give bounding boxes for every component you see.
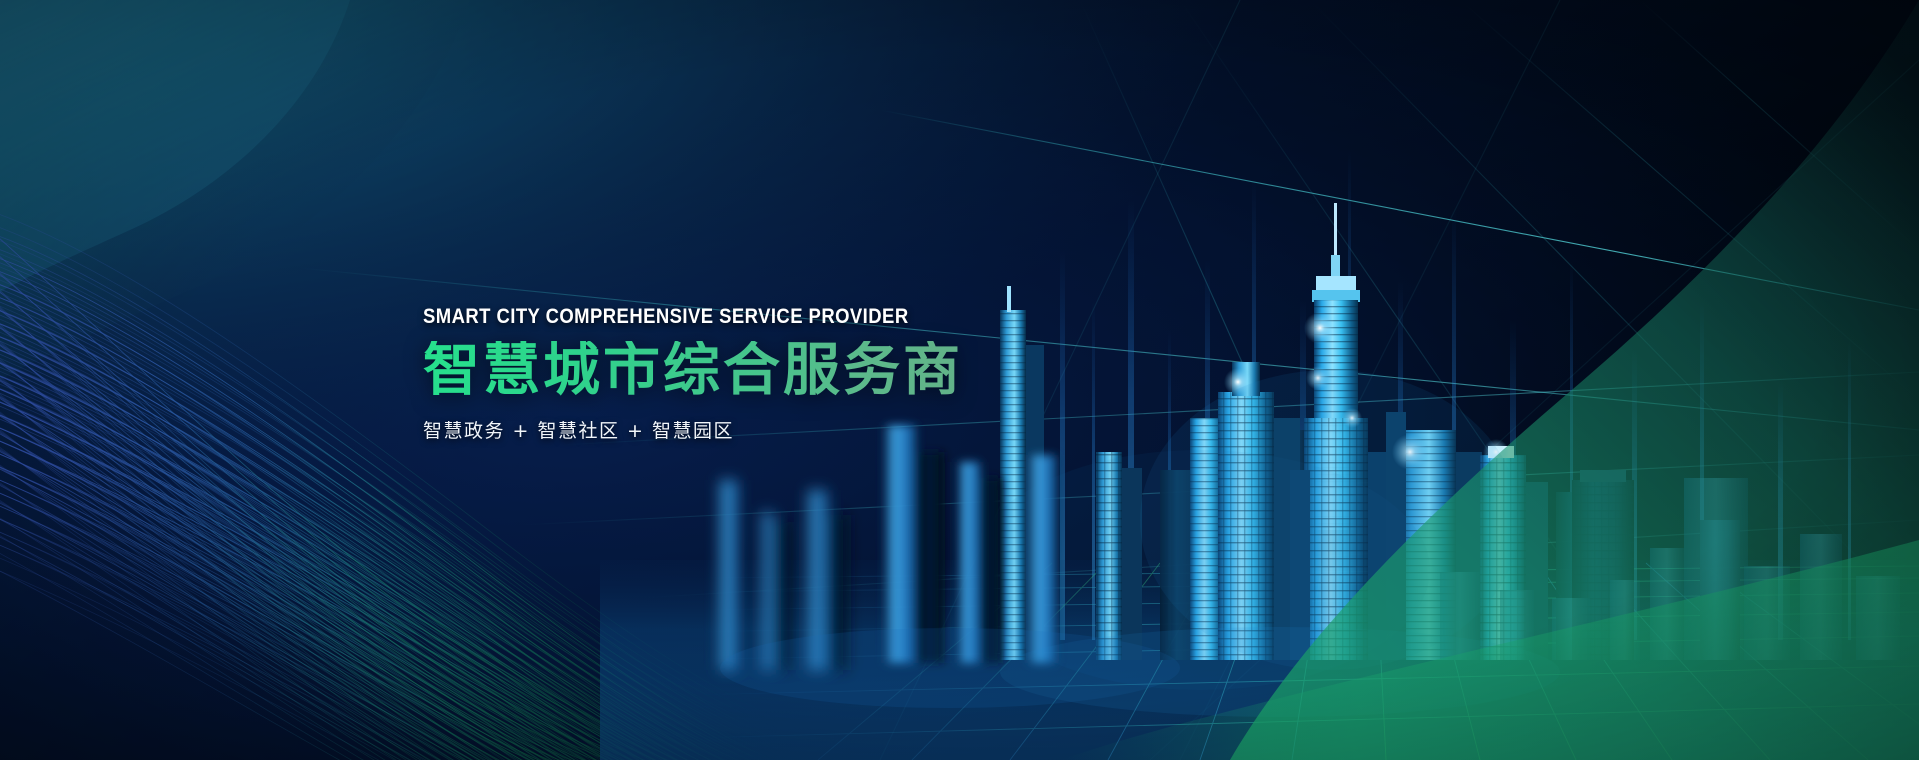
hero-headline: 智慧城市综合服务商 (423, 341, 975, 400)
hero-text-block: SMART CITY COMPREHENSIVE SERVICE PROVIDE… (423, 305, 975, 443)
hero-eyebrow: SMART CITY COMPREHENSIVE SERVICE PROVIDE… (423, 305, 909, 328)
smart-city-hero-banner: SMART CITY COMPREHENSIVE SERVICE PROVIDE… (0, 0, 1919, 760)
hero-subhead: 智慧政务 + 智慧社区 + 智慧园区 (423, 416, 975, 443)
